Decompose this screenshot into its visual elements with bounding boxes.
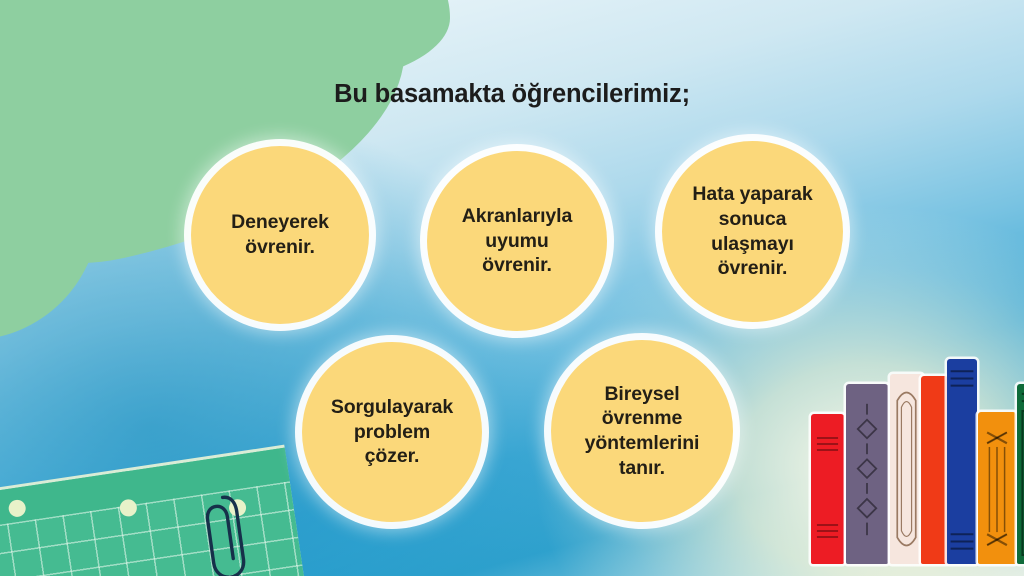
book-red-left: [811, 414, 844, 564]
book-green: [1017, 384, 1024, 564]
bubble-sorgulayarak[interactable]: Sorgulayarak problem çözer.: [302, 342, 482, 522]
book-orange: [978, 412, 1016, 564]
book-navy-spine-marks: [947, 359, 977, 564]
bubble-bireysel[interactable]: Bireysel övrenme yöntemlerini tanır.: [551, 340, 733, 522]
book-navy: [947, 359, 977, 564]
bubble-akranlariyla[interactable]: Akranlarıyla uyumu övrenir.: [427, 151, 607, 331]
book-cream-spine-marks: [890, 374, 923, 564]
bubble-text: Bireysel övrenme yöntemlerini tanır.: [575, 382, 710, 481]
bubble-text: Akranlarıyla uyumu övrenir.: [452, 204, 582, 278]
bubble-deneyerek[interactable]: Deneyerek övrenir.: [191, 146, 369, 324]
bubble-hata[interactable]: Hata yaparak sonuca ulaşmayı övrenir.: [662, 141, 843, 322]
book-purple-spine-marks: [846, 384, 888, 564]
book-cream: [890, 374, 923, 564]
green-blob-tertiary-icon: [150, 0, 450, 90]
book-orange-spine-marks: [978, 412, 1016, 564]
book-purple: [846, 384, 888, 564]
book-red-left-spine-marks: [811, 414, 844, 564]
bubble-text: Deneyerek övrenir.: [221, 210, 339, 260]
book-green-spine-marks: [1017, 384, 1024, 564]
notebook-paper: [0, 448, 311, 576]
bubble-text: Hata yaparak sonuca ulaşmayı övrenir.: [682, 182, 822, 281]
page-title: Bu basamakta öğrencilerimiz;: [0, 80, 1024, 109]
stack-of-books-illustration: [809, 359, 1024, 564]
book-red-tall: [921, 376, 948, 564]
bubble-text: Sorgulayarak problem çözer.: [321, 395, 463, 469]
slide-canvas: Bu basamakta öğrencilerimiz; Deneyerek ö…: [0, 0, 1024, 576]
